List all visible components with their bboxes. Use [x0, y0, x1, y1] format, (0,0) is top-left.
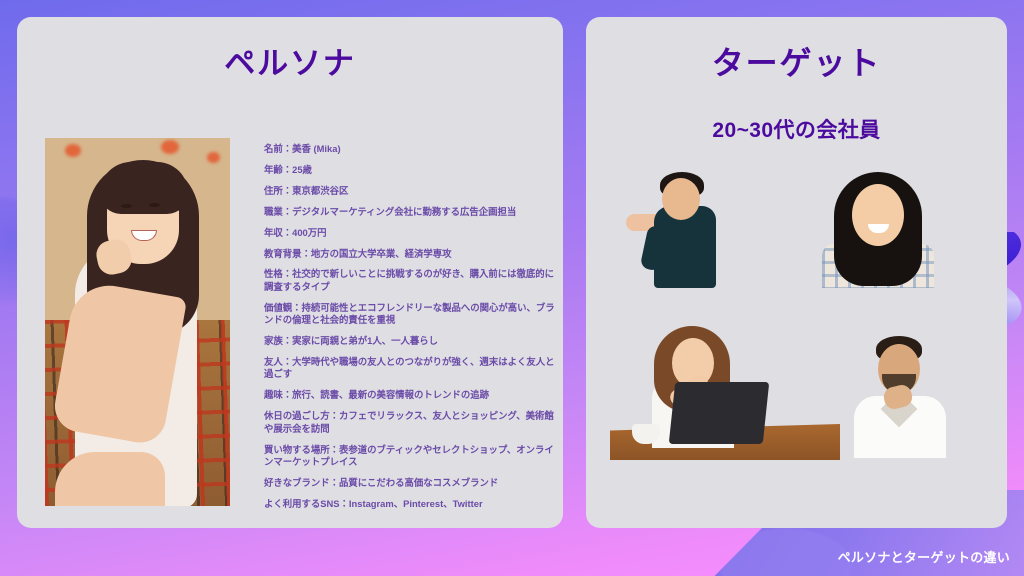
target-person-photo-1: [618, 170, 724, 288]
persona-card-title: ペルソナ: [17, 17, 563, 82]
target-card-title: ターゲット: [586, 17, 1007, 82]
persona-detail-row: 性格：社交的で新しいことに挑戦するのが好き、購入前には徹底的に調査するタイプ: [264, 268, 560, 293]
persona-detail-row: 住所：東京都渋谷区: [264, 185, 560, 197]
persona-detail-row: 教育背景：地方の国立大学卒業、経済学専攻: [264, 248, 560, 260]
persona-detail-row: 年齢：25歳: [264, 164, 560, 176]
persona-detail-row: 職業：デジタルマーケティング会社に勤務する広告企画担当: [264, 206, 560, 218]
persona-detail-row: 好きなブランド：品質にこだわる高価なコスメブランド: [264, 477, 560, 489]
persona-detail-row: 名前：美香 (Mika): [264, 143, 560, 155]
target-person-photo-2: [812, 168, 942, 288]
persona-detail-row: 友人：大学時代や職場の友人とのつながりが強く、週末はよく友人と過ごす: [264, 356, 560, 381]
footer-caption: ペルソナとターゲットの違い: [838, 547, 1010, 566]
persona-detail-row: 趣味：旅行、読書、最新の美容情報のトレンドの追跡: [264, 389, 560, 401]
slide-root: ペルソナ 名前：美香 (Mika) 年齢：25歳 住所：東京都渋谷区 職業：デジ…: [0, 0, 1024, 576]
persona-detail-row: 休日の過ごし方：カフェでリラックス、友人とショッピング、美術館や展示会を訪問: [264, 410, 560, 435]
target-person-photo-4: [848, 330, 948, 458]
persona-detail-row: 価値観：持続可能性とエコフレンドリーな製品への関心が高い、ブランドの倫理と社会的…: [264, 302, 560, 327]
target-people-grid: [600, 162, 992, 470]
persona-detail-row: よく利用するSNS：Instagram、Pinterest、Twitter: [264, 498, 560, 510]
persona-card: ペルソナ 名前：美香 (Mika) 年齢：25歳 住所：東京都渋谷区 職業：デジ…: [17, 17, 563, 528]
target-subtitle: 20~30代の会社員: [586, 82, 1007, 144]
persona-detail-row: 買い物する場所：表参道のブティックやセレクトショップ、オンラインマーケットプレイ…: [264, 444, 560, 469]
persona-photo: [45, 138, 230, 506]
persona-detail-list: 名前：美香 (Mika) 年齢：25歳 住所：東京都渋谷区 職業：デジタルマーケ…: [264, 143, 560, 510]
persona-detail-row: 家族：実家に両親と弟が1人、一人暮らし: [264, 335, 560, 347]
persona-detail-row: 年収：400万円: [264, 227, 560, 239]
target-person-photo-3: [610, 320, 840, 460]
